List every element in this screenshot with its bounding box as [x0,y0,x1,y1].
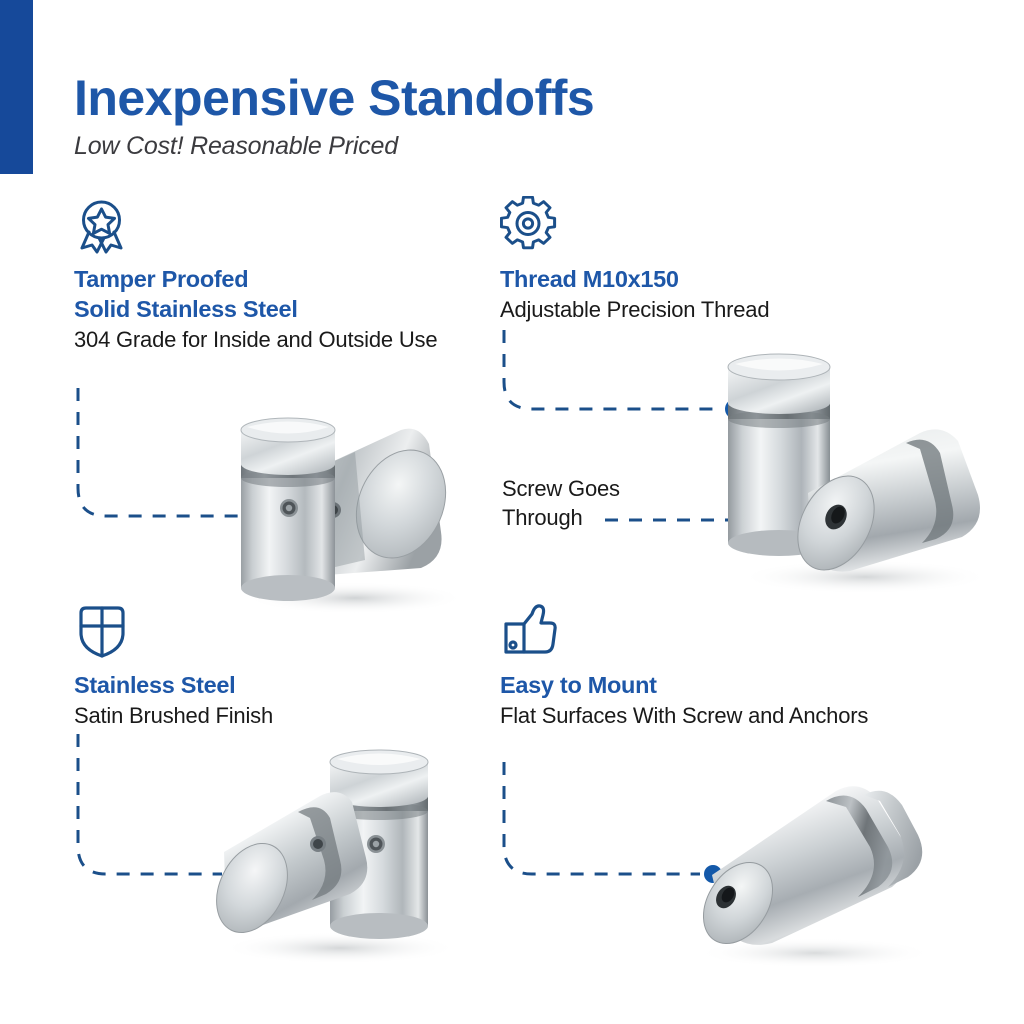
product-image-standoff-pair-2 [690,345,1010,605]
header: Inexpensive Standoffs Low Cost! Reasonab… [74,72,774,161]
feature-title-line-1: Tamper Proofed [74,266,248,292]
product-image-standoff-single [650,765,960,980]
callout-screw-goes-through: Screw Goes Through [502,474,702,532]
product-image-standoff-pair-3 [180,740,480,975]
callout-line-2: Through [502,505,583,530]
product-image-standoff-pair-1 [205,400,485,620]
page-subtitle: Low Cost! Reasonable Priced [74,133,774,161]
feature-block-stainless-steel: Stainless Steel Satin Brushed Finish [74,602,474,730]
feature-title: Thread M10x150 [500,264,900,294]
standoff-horizontal [689,786,922,956]
feature-block-thread: Thread M10x150 Adjustable Precision Thre… [500,196,900,324]
gear-icon [500,196,558,254]
accent-bar [0,0,33,174]
feature-description: Flat Surfaces With Screw and Anchors [500,701,900,730]
standoff-front-upright [241,418,335,601]
thumbs-up-icon [500,602,560,660]
feature-description: Adjustable Precision Thread [500,295,900,324]
shield-icon [74,602,130,660]
feature-block-tamper-proofed: Tamper Proofed Solid Stainless Steel 304… [74,196,474,354]
feature-title: Tamper Proofed Solid Stainless Steel [74,264,474,324]
feature-block-easy-to-mount: Easy to Mount Flat Surfaces With Screw a… [500,602,900,730]
feature-description: Satin Brushed Finish [74,701,474,730]
feature-title: Easy to Mount [500,670,900,700]
feature-title-line-2: Solid Stainless Steel [74,296,298,322]
award-badge-icon [74,196,132,254]
callout-line-1: Screw Goes [502,476,620,501]
page-title: Inexpensive Standoffs [74,72,774,125]
feature-title: Stainless Steel [74,670,474,700]
feature-description: 304 Grade for Inside and Outside Use [74,325,474,354]
